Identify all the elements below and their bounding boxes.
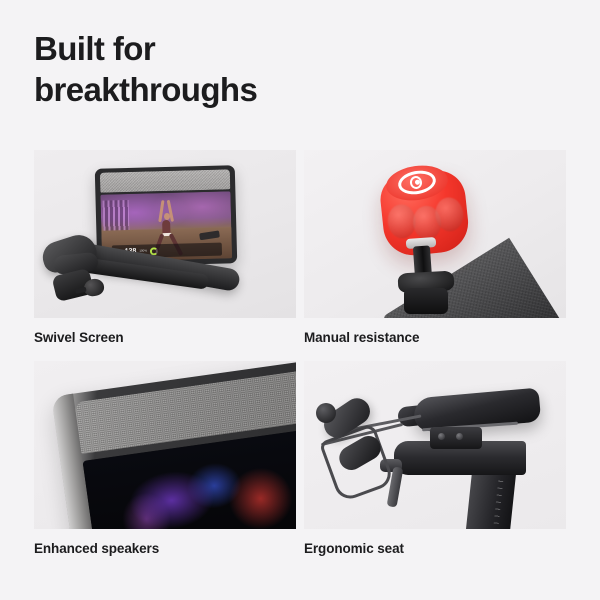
- handlebar-assembly: [36, 232, 248, 304]
- feature-card-swivel-screen[interactable]: CAD 138 100% Swivel Scree: [34, 150, 296, 347]
- swivel-screen-image: CAD 138 100%: [34, 150, 296, 318]
- clamp-bolt: [438, 433, 445, 440]
- ergonomic-seat-image: [304, 361, 566, 529]
- manual-resistance-image: [304, 150, 566, 318]
- rear-grip-end-cap: [316, 403, 336, 423]
- feature-caption: Ergonomic seat: [304, 540, 566, 558]
- resistance-knob-assembly: [372, 168, 492, 318]
- feature-caption: Enhanced speakers: [34, 540, 296, 558]
- knob-base-mount: [404, 288, 448, 314]
- athlete-head: [164, 213, 170, 220]
- seat-height-markings: [494, 474, 504, 526]
- feature-card-enhanced-speakers[interactable]: Enhanced speakers: [34, 361, 296, 558]
- seat-assembly: [318, 379, 558, 529]
- feature-card-grid: CAD 138 100% Swivel Scree: [34, 150, 566, 558]
- feature-card-ergonomic-seat[interactable]: Ergonomic seat: [304, 361, 566, 558]
- feature-caption: Swivel Screen: [34, 329, 296, 347]
- enhanced-speakers-image: [34, 361, 296, 529]
- tablet-speaker-grille: [100, 169, 230, 192]
- clamp-bolt: [456, 433, 463, 440]
- feature-caption: Manual resistance: [304, 329, 566, 347]
- feature-grid-page: Built for breakthroughs: [0, 0, 600, 600]
- saddle-clamp: [430, 427, 482, 449]
- feature-card-manual-resistance[interactable]: Manual resistance: [304, 150, 566, 347]
- page-title: Built for breakthroughs: [34, 28, 454, 110]
- screen-unit: [51, 361, 296, 529]
